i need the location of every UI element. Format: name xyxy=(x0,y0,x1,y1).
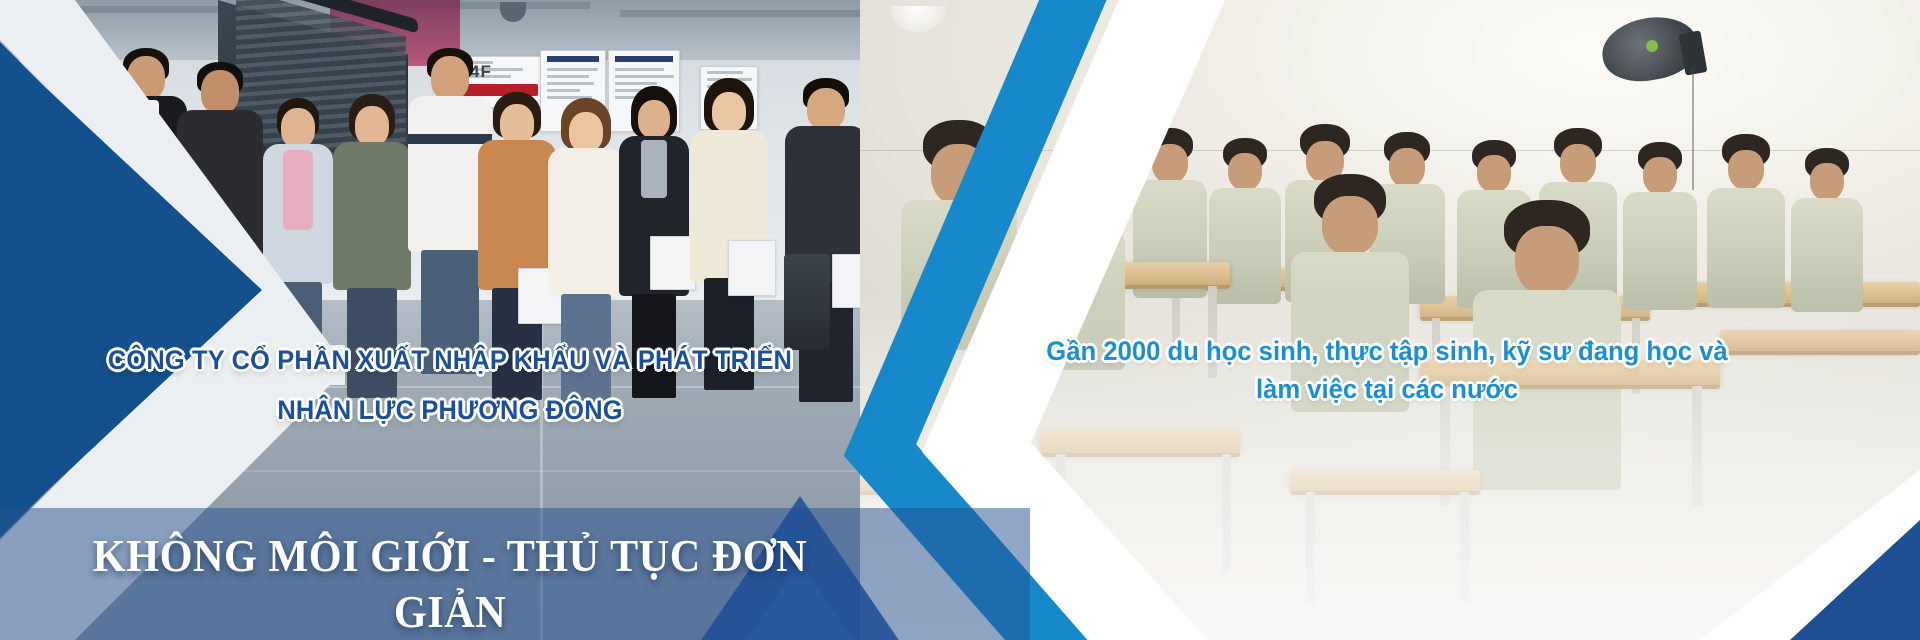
classroom-caption-line2: làm việc tại các nước xyxy=(898,370,1877,408)
company-name-line1: CÔNG TY CỔ PHẦN XUẤT NHẬP KHẨU VÀ PHÁT T… xyxy=(27,340,873,380)
company-slogan: KHÔNG MÔI GIỚI - THỦ TỤC ĐƠN GIẢN xyxy=(36,528,864,640)
company-name: CÔNG TY CỔ PHẦN XUẤT NHẬP KHẨU VÀ PHÁT T… xyxy=(27,340,873,430)
classroom-caption: Gần 2000 du học sinh, thực tập sinh, kỹ … xyxy=(898,332,1877,408)
promo-banner: 4F xyxy=(0,0,1920,640)
company-name-line2: NHÂN LỰC PHƯƠNG ĐÔNG xyxy=(27,390,873,430)
classroom-caption-line1: Gần 2000 du học sinh, thực tập sinh, kỹ … xyxy=(898,332,1877,370)
